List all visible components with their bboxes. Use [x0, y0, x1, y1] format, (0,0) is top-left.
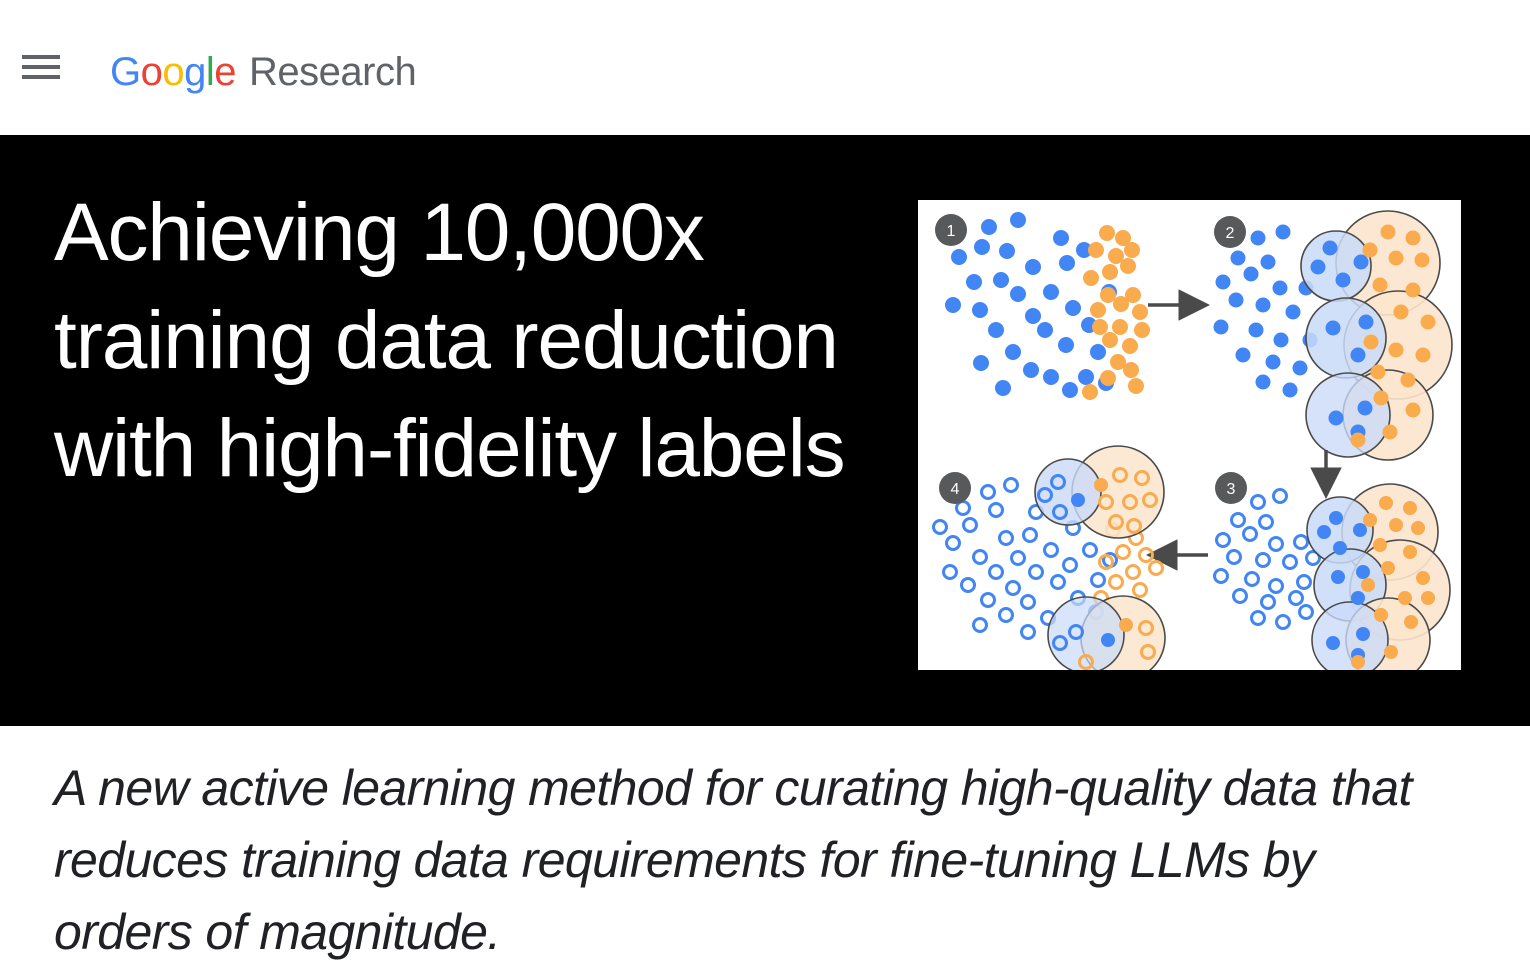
diagram-svg: 1 — [918, 200, 1461, 670]
site-header: Google Research — [0, 0, 1530, 135]
panel-4-group: 4 — [934, 446, 1166, 670]
panel-4-number: 4 — [951, 481, 960, 498]
page-subtitle: A new active learning method for curatin… — [54, 752, 1454, 968]
hero-banner: Achieving 10,000x training data reductio… — [0, 135, 1530, 726]
panel-2-group: 2 — [1214, 211, 1453, 460]
logo-letter-o1: o — [141, 50, 163, 94]
logo-letter-g1: G — [110, 50, 141, 94]
logo-letter-l: l — [206, 50, 214, 94]
logo-letter-g2: g — [184, 50, 206, 94]
menu-bar-2 — [22, 65, 60, 69]
logo-letter-o2: o — [162, 50, 184, 94]
page-title: Achieving 10,000x training data reductio… — [54, 179, 874, 503]
panel-1-number: 1 — [947, 223, 956, 240]
brand-logo[interactable]: Google Research — [110, 44, 416, 100]
brand-unit-label: Research — [249, 44, 416, 100]
menu-bar-1 — [22, 55, 60, 59]
panel-3-number: 3 — [1227, 481, 1236, 498]
panel-3-group: 3 — [1215, 472, 1451, 670]
menu-bar-3 — [22, 75, 60, 79]
active-learning-diagram-image: 1 — [918, 200, 1461, 670]
logo-letter-e: e — [214, 50, 236, 94]
panel-2-number: 2 — [1226, 225, 1235, 242]
panel-1-group: 1 — [935, 212, 1150, 400]
google-wordmark: Google — [110, 44, 236, 100]
hamburger-menu-icon[interactable] — [22, 52, 62, 82]
